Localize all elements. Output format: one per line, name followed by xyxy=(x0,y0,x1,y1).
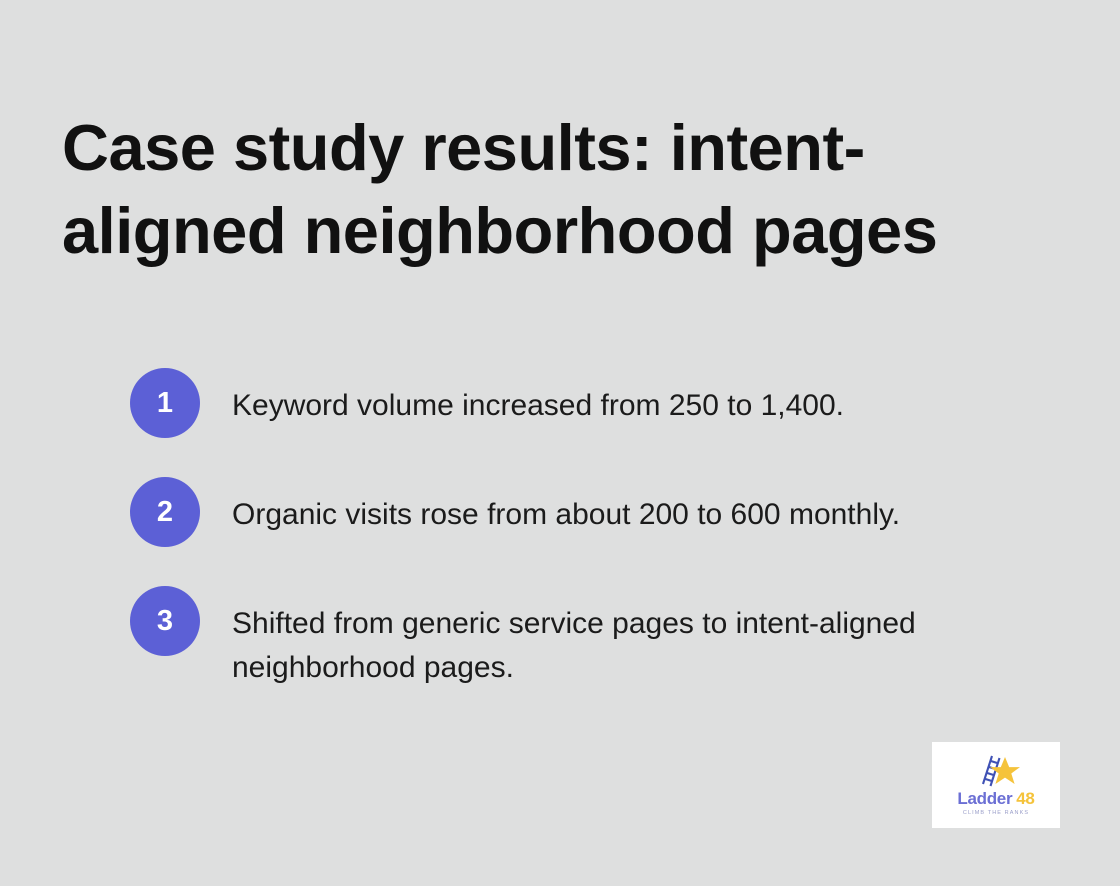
bullet-number-badge: 2 xyxy=(130,477,200,547)
brand-logo: Ladder48 CLIMB THE RANKS xyxy=(932,742,1060,828)
logo-number: 48 xyxy=(1016,789,1034,808)
bullet-number-badge: 3 xyxy=(130,586,200,656)
logo-name: Ladder xyxy=(957,789,1012,808)
logo-tagline: CLIMB THE RANKS xyxy=(963,811,1029,817)
list-item: 1 Keyword volume increased from 250 to 1… xyxy=(130,368,1030,438)
bullet-text: Keyword volume increased from 250 to 1,4… xyxy=(232,368,1002,428)
list-item: 2 Organic visits rose from about 200 to … xyxy=(130,477,1030,547)
slide-canvas: Case study results: intent-aligned neigh… xyxy=(0,0,1120,886)
bullet-text: Shifted from generic service pages to in… xyxy=(232,586,1002,690)
page-title: Case study results: intent-aligned neigh… xyxy=(62,106,982,272)
list-item: 3 Shifted from generic service pages to … xyxy=(130,586,1030,690)
bullet-text: Organic visits rose from about 200 to 60… xyxy=(232,477,1002,537)
ladder-star-icon xyxy=(969,753,1023,787)
logo-wordmark: Ladder48 xyxy=(957,790,1034,807)
bullet-list: 1 Keyword volume increased from 250 to 1… xyxy=(130,368,1030,729)
bullet-number-badge: 1 xyxy=(130,368,200,438)
